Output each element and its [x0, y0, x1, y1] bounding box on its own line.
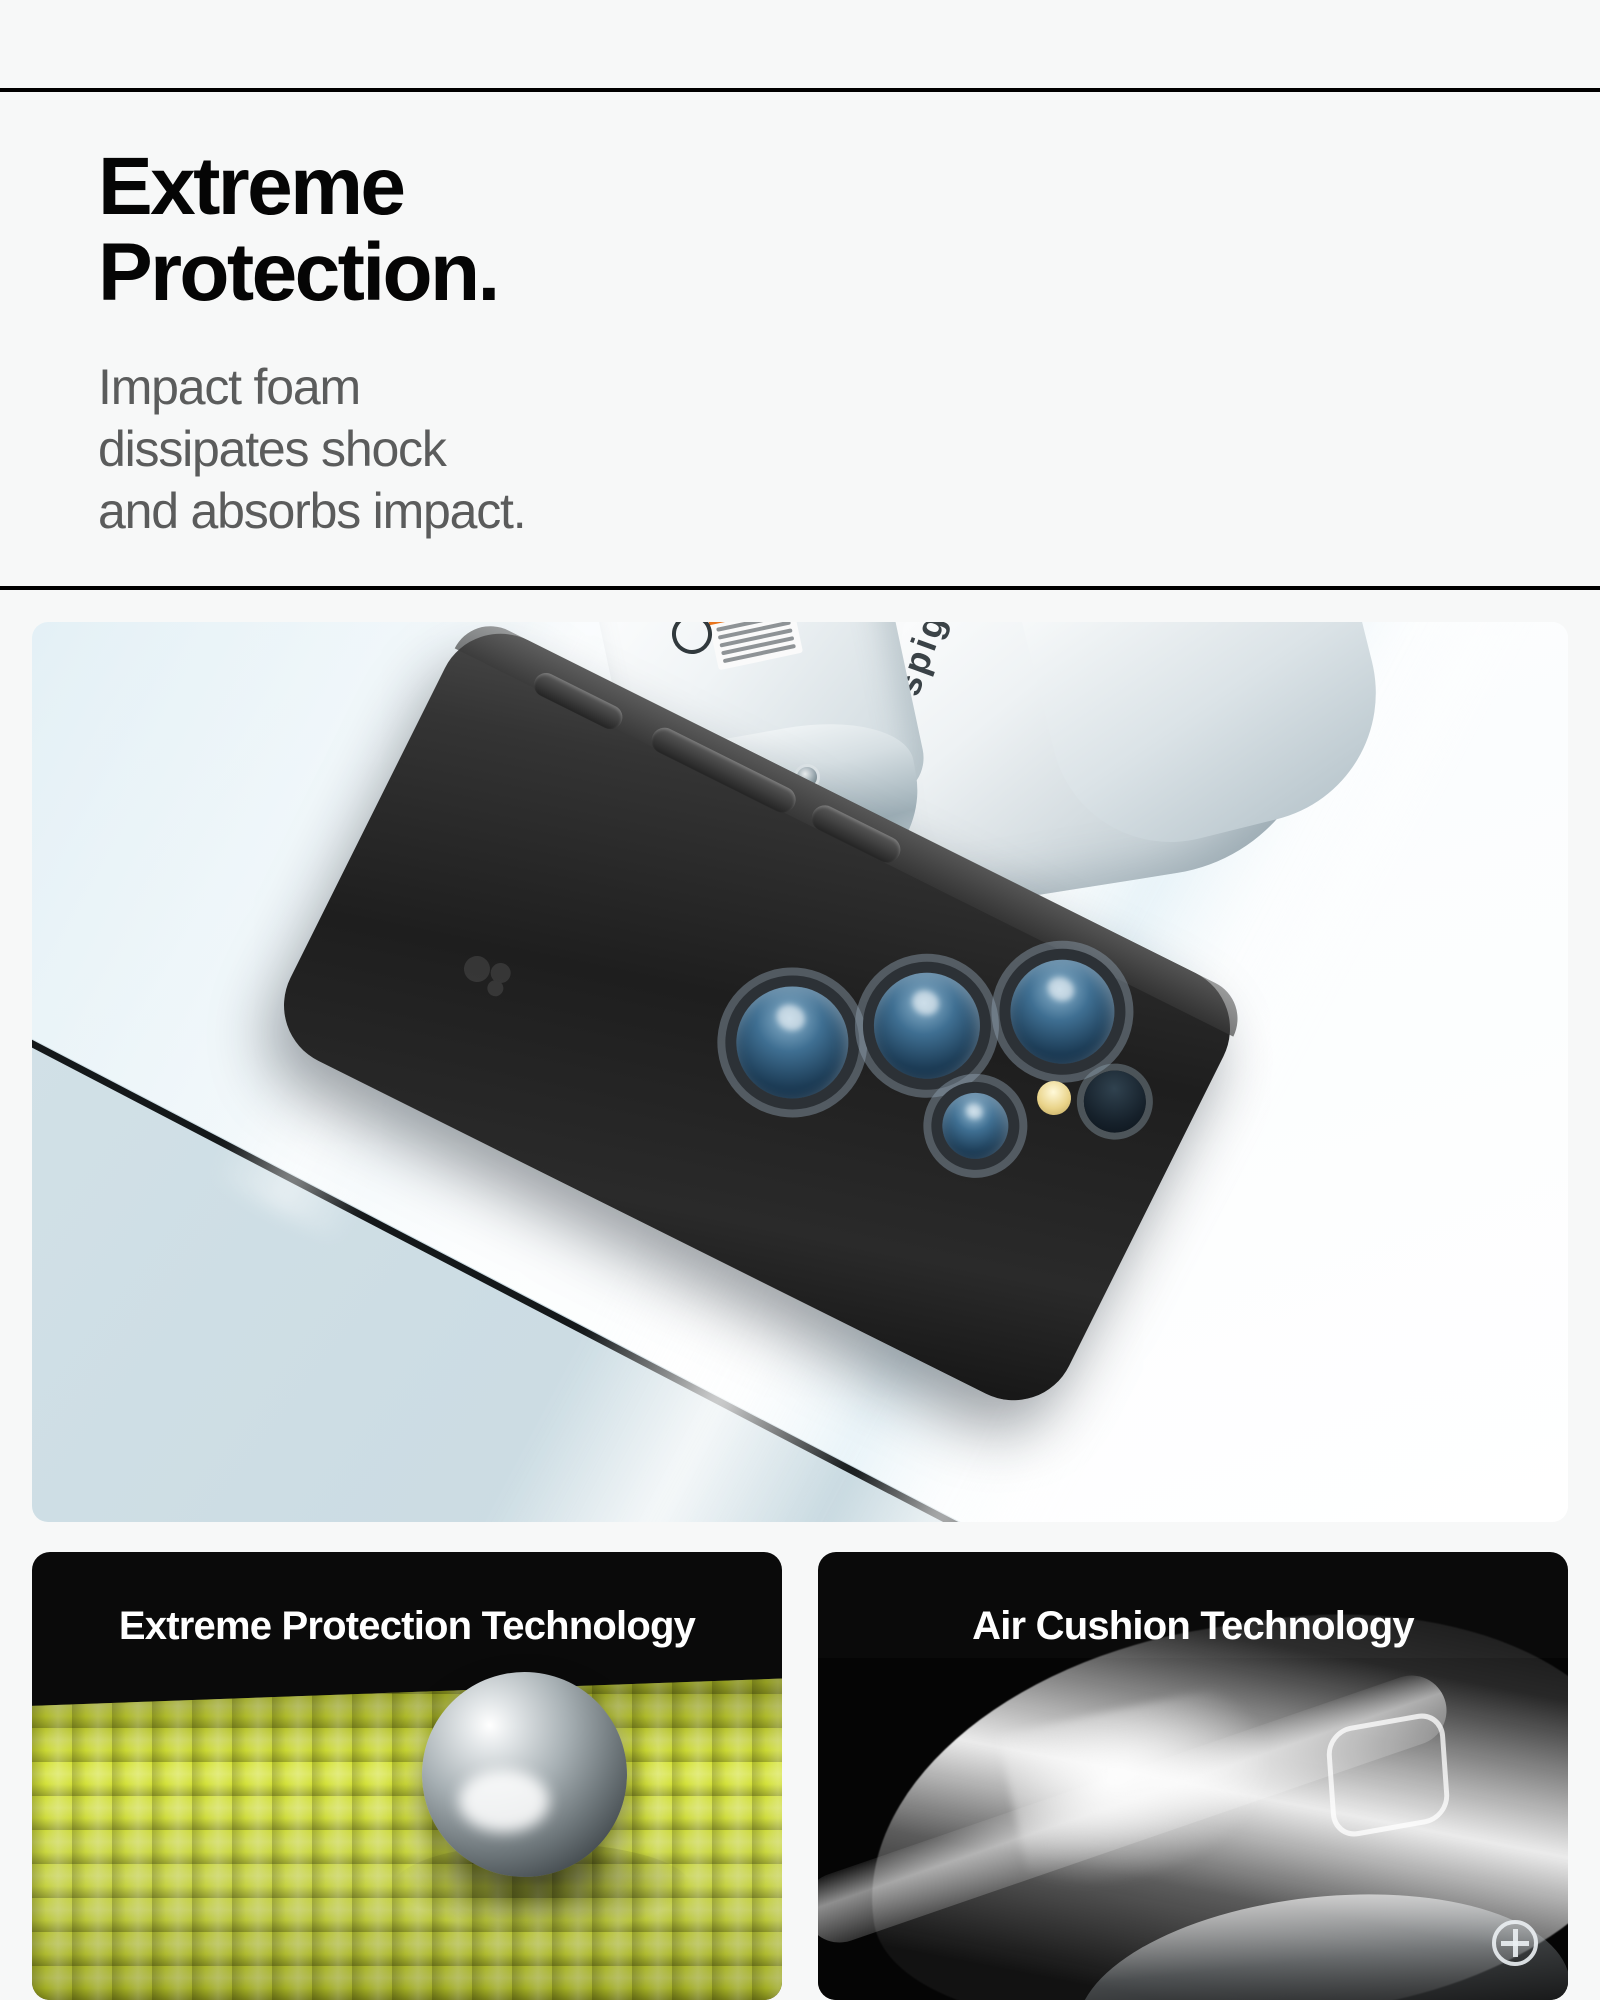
air-cushion-corner-image [818, 1658, 1568, 2000]
product-feature-page: Extreme Protection. Impact foam dissipat… [0, 0, 1600, 2000]
subtitle-line-2: dissipates shock [98, 418, 1600, 480]
crosshair-logo-icon [1492, 1920, 1538, 1966]
card-title: Extreme Protection Technology [32, 1552, 782, 1649]
page-subtitle: Impact foam dissipates shock and absorbs… [98, 356, 1600, 542]
card-title: Air Cushion Technology [818, 1552, 1568, 1649]
header-section: Extreme Protection. Impact foam dissipat… [0, 88, 1600, 590]
card-air-cushion-technology[interactable]: Air Cushion Technology [818, 1552, 1568, 2000]
subtitle-line-1: Impact foam [98, 356, 1600, 418]
headline-line-2: Protection. [98, 230, 1600, 316]
card-extreme-protection-technology[interactable]: Extreme Protection Technology [32, 1552, 782, 2000]
hero-image: spigen [32, 622, 1568, 1522]
camera-lens-wide [856, 955, 998, 1097]
camera-lens-macro [931, 1082, 1020, 1171]
steel-ball [422, 1672, 627, 1877]
page-title: Extreme Protection. [98, 144, 1600, 316]
subtitle-line-3: and absorbs impact. [98, 480, 1600, 542]
foam-shading [32, 1658, 782, 2000]
led-flash-icon [1031, 1075, 1077, 1121]
steel-ball-on-impact-foam-image [32, 1658, 782, 2000]
button-cutout [1325, 1709, 1451, 1840]
headline-line-1: Extreme [98, 141, 403, 232]
feature-cards: Extreme Protection Technology Air Cushio… [32, 1552, 1568, 2000]
